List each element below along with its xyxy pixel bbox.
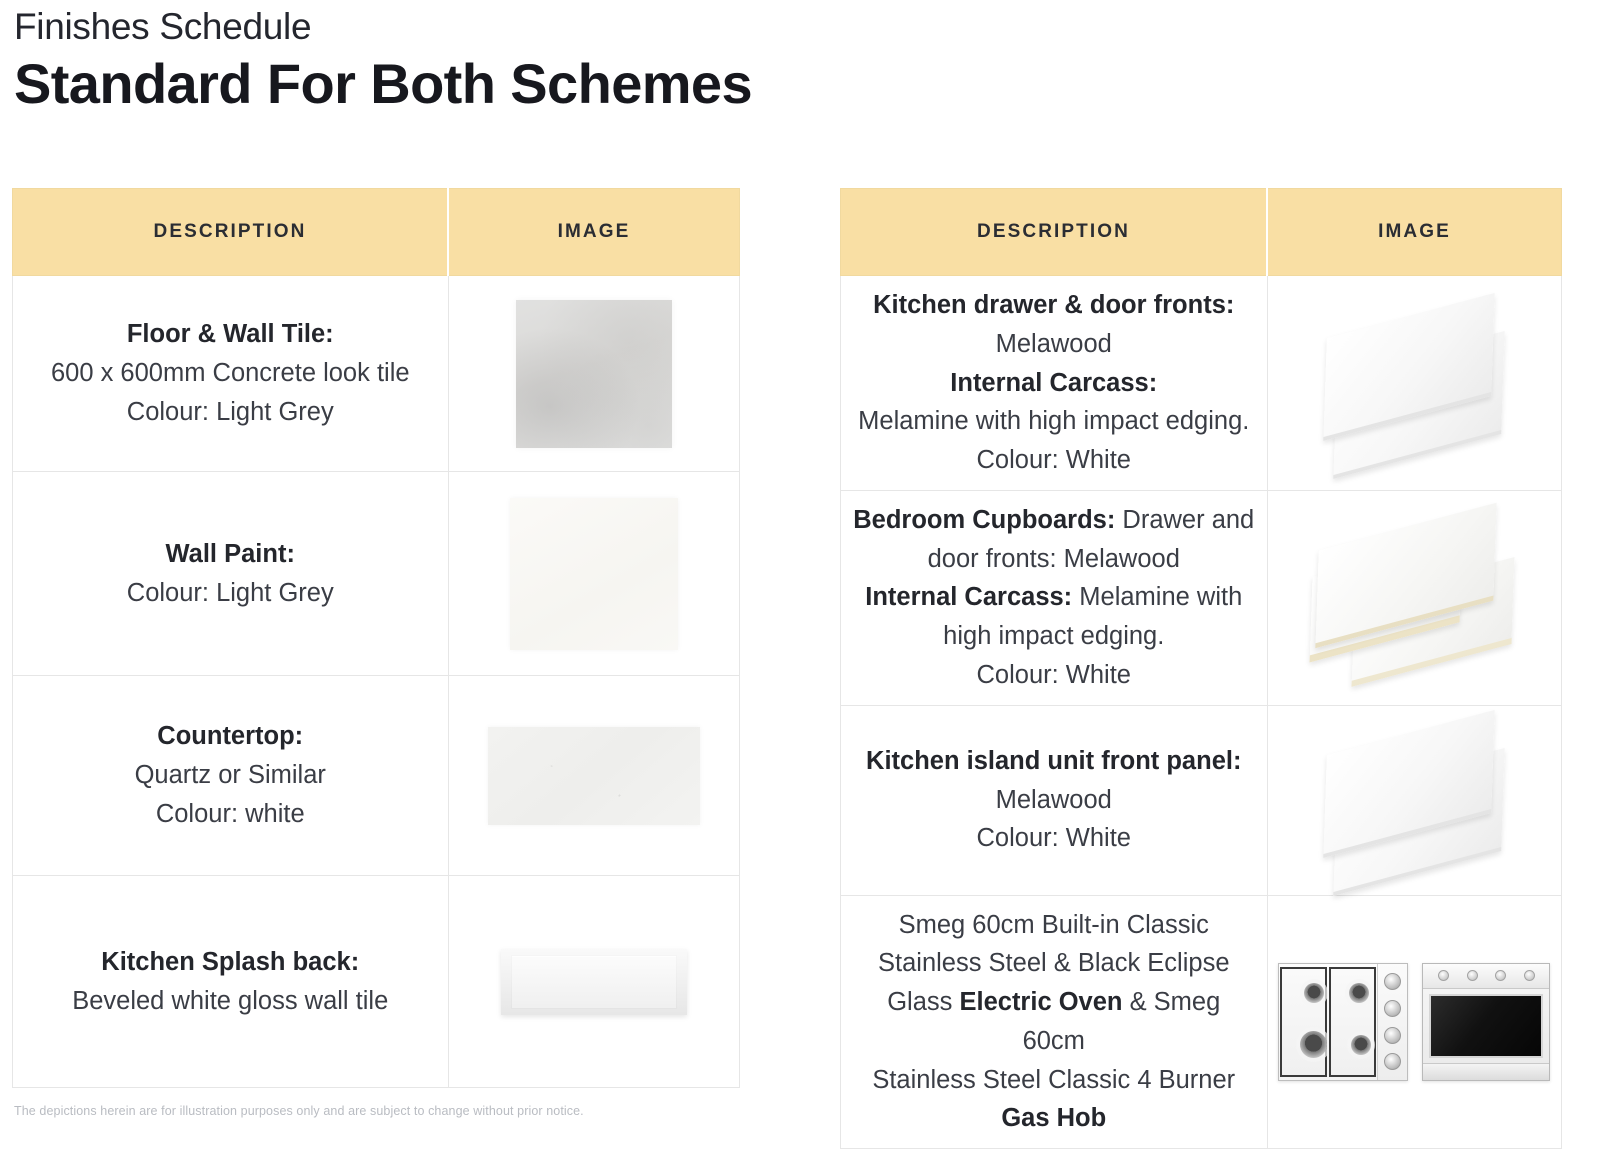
row-line-text: high impact edging. [943, 622, 1164, 650]
page-title: Standard For Both Schemes [14, 53, 752, 116]
beveled-white-gloss-tile [449, 949, 740, 1015]
description-cell: Smeg 60cm Built-in Classic Stainless Ste… [841, 895, 1268, 1149]
melamine-boards-edged [1268, 523, 1562, 673]
row-line-text: Glass [887, 988, 959, 1016]
row-line-2: Beveled white gloss wall tile [72, 987, 388, 1015]
description-cell: Kitchen drawer & door fronts: Melawood I… [841, 276, 1268, 491]
white-melawood-panels [1268, 725, 1562, 875]
light-grey-paint-swatch [449, 498, 740, 650]
table-header-row: DESCRIPTION IMAGE [13, 189, 740, 276]
oven-dial-icon[interactable] [1495, 970, 1506, 981]
white-quartz-swatch [449, 727, 740, 825]
table-row: Kitchen drawer & door fronts: Melawood I… [841, 276, 1562, 491]
oven-base [1423, 1063, 1549, 1080]
image-cell [448, 676, 740, 876]
hob-knob-icon[interactable] [1384, 1053, 1401, 1070]
disclaimer-footnote: The depictions herein are for illustrati… [14, 1104, 584, 1118]
row-line-3: Colour: Light Grey [127, 398, 334, 426]
row-title: Floor & Wall Tile: [127, 320, 334, 348]
row-line-bold: Kitchen drawer & door fronts: [873, 291, 1234, 319]
row-line-bold: Electric Oven [959, 988, 1122, 1016]
concrete-look-tile-swatch [449, 300, 740, 448]
page-eyebrow: Finishes Schedule [14, 6, 752, 47]
burner-icon [1300, 1031, 1327, 1058]
bevel-tile-graphic [501, 949, 687, 1015]
table-row: Countertop: Quartz or Similar Colour: wh… [13, 676, 740, 876]
oven-dial-icon[interactable] [1467, 970, 1478, 981]
image-cell [1267, 490, 1562, 705]
row-line-bold: Internal Carcass: [865, 583, 1072, 611]
row-line-text: Melamine with [1072, 583, 1242, 611]
row-line-text: Stainless Steel Classic 4 Burner [872, 1066, 1235, 1094]
table-row: Bedroom Cupboards: Drawer and door front… [841, 490, 1562, 705]
hob-knob-icon[interactable] [1384, 973, 1401, 990]
burner-icon [1304, 983, 1324, 1003]
hob-grid-left [1280, 967, 1327, 1077]
row-line-text: Colour: White [977, 446, 1131, 474]
melawood-panels-graphic [1309, 725, 1519, 875]
row-title: Wall Paint: [166, 540, 295, 568]
row-line-text: door fronts: Melawood [928, 545, 1180, 573]
image-cell [448, 276, 740, 472]
column-header-description: DESCRIPTION [841, 189, 1268, 276]
table-row: Smeg 60cm Built-in Classic Stainless Ste… [841, 895, 1562, 1149]
row-line-2: 600 x 600mm Concrete look tile [51, 359, 410, 387]
hob-knob-panel[interactable] [1377, 964, 1407, 1080]
tile-swatch-graphic [516, 300, 672, 448]
row-line-text: Smeg 60cm Built-in Classic [899, 911, 1209, 939]
row-line-bold: Bedroom Cupboards: [853, 506, 1115, 534]
description-cell: Wall Paint: Colour: Light Grey [13, 472, 449, 676]
table-row: Wall Paint: Colour: Light Grey [13, 472, 740, 676]
smeg-gas-hob-and-electric-oven [1268, 963, 1562, 1081]
electric-oven-graphic [1422, 963, 1550, 1081]
description-cell: Countertop: Quartz or Similar Colour: wh… [13, 676, 449, 876]
image-cell [1267, 276, 1562, 491]
row-line-3: Colour: white [156, 800, 305, 828]
finishes-table-left: DESCRIPTION IMAGE Floor & Wall Tile: 600… [12, 188, 740, 1088]
image-cell [1267, 895, 1562, 1149]
row-line-bold: Kitchen island unit front panel: [866, 747, 1241, 775]
row-line-text: Colour: White [977, 824, 1131, 852]
quartz-swatch-graphic [488, 727, 700, 825]
description-cell: Kitchen Splash back: Beveled white gloss… [13, 876, 449, 1088]
row-line-text: Drawer and [1115, 506, 1254, 534]
image-cell [1267, 705, 1562, 895]
row-line-2: Colour: Light Grey [127, 579, 334, 607]
melamine-boards-graphic [1309, 308, 1519, 458]
burner-icon [1351, 1035, 1371, 1055]
table-row: Floor & Wall Tile: 600 x 600mm Concrete … [13, 276, 740, 472]
image-cell [448, 876, 740, 1088]
burner-icon [1349, 983, 1369, 1003]
appliance-graphics [1278, 963, 1550, 1081]
row-line-bold: Internal Carcass: [950, 369, 1157, 397]
row-title: Kitchen Splash back: [101, 948, 359, 976]
row-line-text: Melawood [996, 786, 1112, 814]
finishes-table-right: DESCRIPTION IMAGE Kitchen drawer & door … [840, 188, 1562, 1149]
oven-dial-icon[interactable] [1438, 970, 1449, 981]
paint-swatch-graphic [510, 498, 678, 650]
row-line-text: Stainless Steel & Black Eclipse [878, 949, 1230, 977]
column-header-image: IMAGE [448, 189, 740, 276]
gas-hob-graphic [1278, 963, 1408, 1081]
column-header-description: DESCRIPTION [13, 189, 449, 276]
hob-grid-right [1329, 967, 1376, 1077]
table-header-row: DESCRIPTION IMAGE [841, 189, 1562, 276]
table-row: Kitchen Splash back: Beveled white gloss… [13, 876, 740, 1088]
row-line-text: Melawood [996, 330, 1112, 358]
table-row: Kitchen island unit front panel: Melawoo… [841, 705, 1562, 895]
melamine-boards-edged-graphic [1309, 523, 1519, 673]
description-cell: Bedroom Cupboards: Drawer and door front… [841, 490, 1268, 705]
oven-control-panel [1423, 964, 1549, 989]
hob-knob-icon[interactable] [1384, 1000, 1401, 1017]
page-title-block: Finishes Schedule Standard For Both Sche… [14, 6, 752, 116]
image-cell [448, 472, 740, 676]
row-line-text: Colour: White [977, 661, 1131, 689]
column-header-image: IMAGE [1267, 189, 1562, 276]
row-title: Countertop: [157, 722, 303, 750]
row-line-bold: Gas Hob [1001, 1104, 1106, 1132]
oven-dial-icon[interactable] [1524, 970, 1535, 981]
description-cell: Floor & Wall Tile: 600 x 600mm Concrete … [13, 276, 449, 472]
row-line-2: Quartz or Similar [135, 761, 326, 789]
white-melamine-boards [1268, 308, 1562, 458]
hob-knob-icon[interactable] [1384, 1027, 1401, 1044]
description-cell: Kitchen island unit front panel: Melawoo… [841, 705, 1268, 895]
row-line-text: Melamine with high impact edging. [858, 407, 1249, 435]
oven-glass-door [1429, 994, 1543, 1058]
